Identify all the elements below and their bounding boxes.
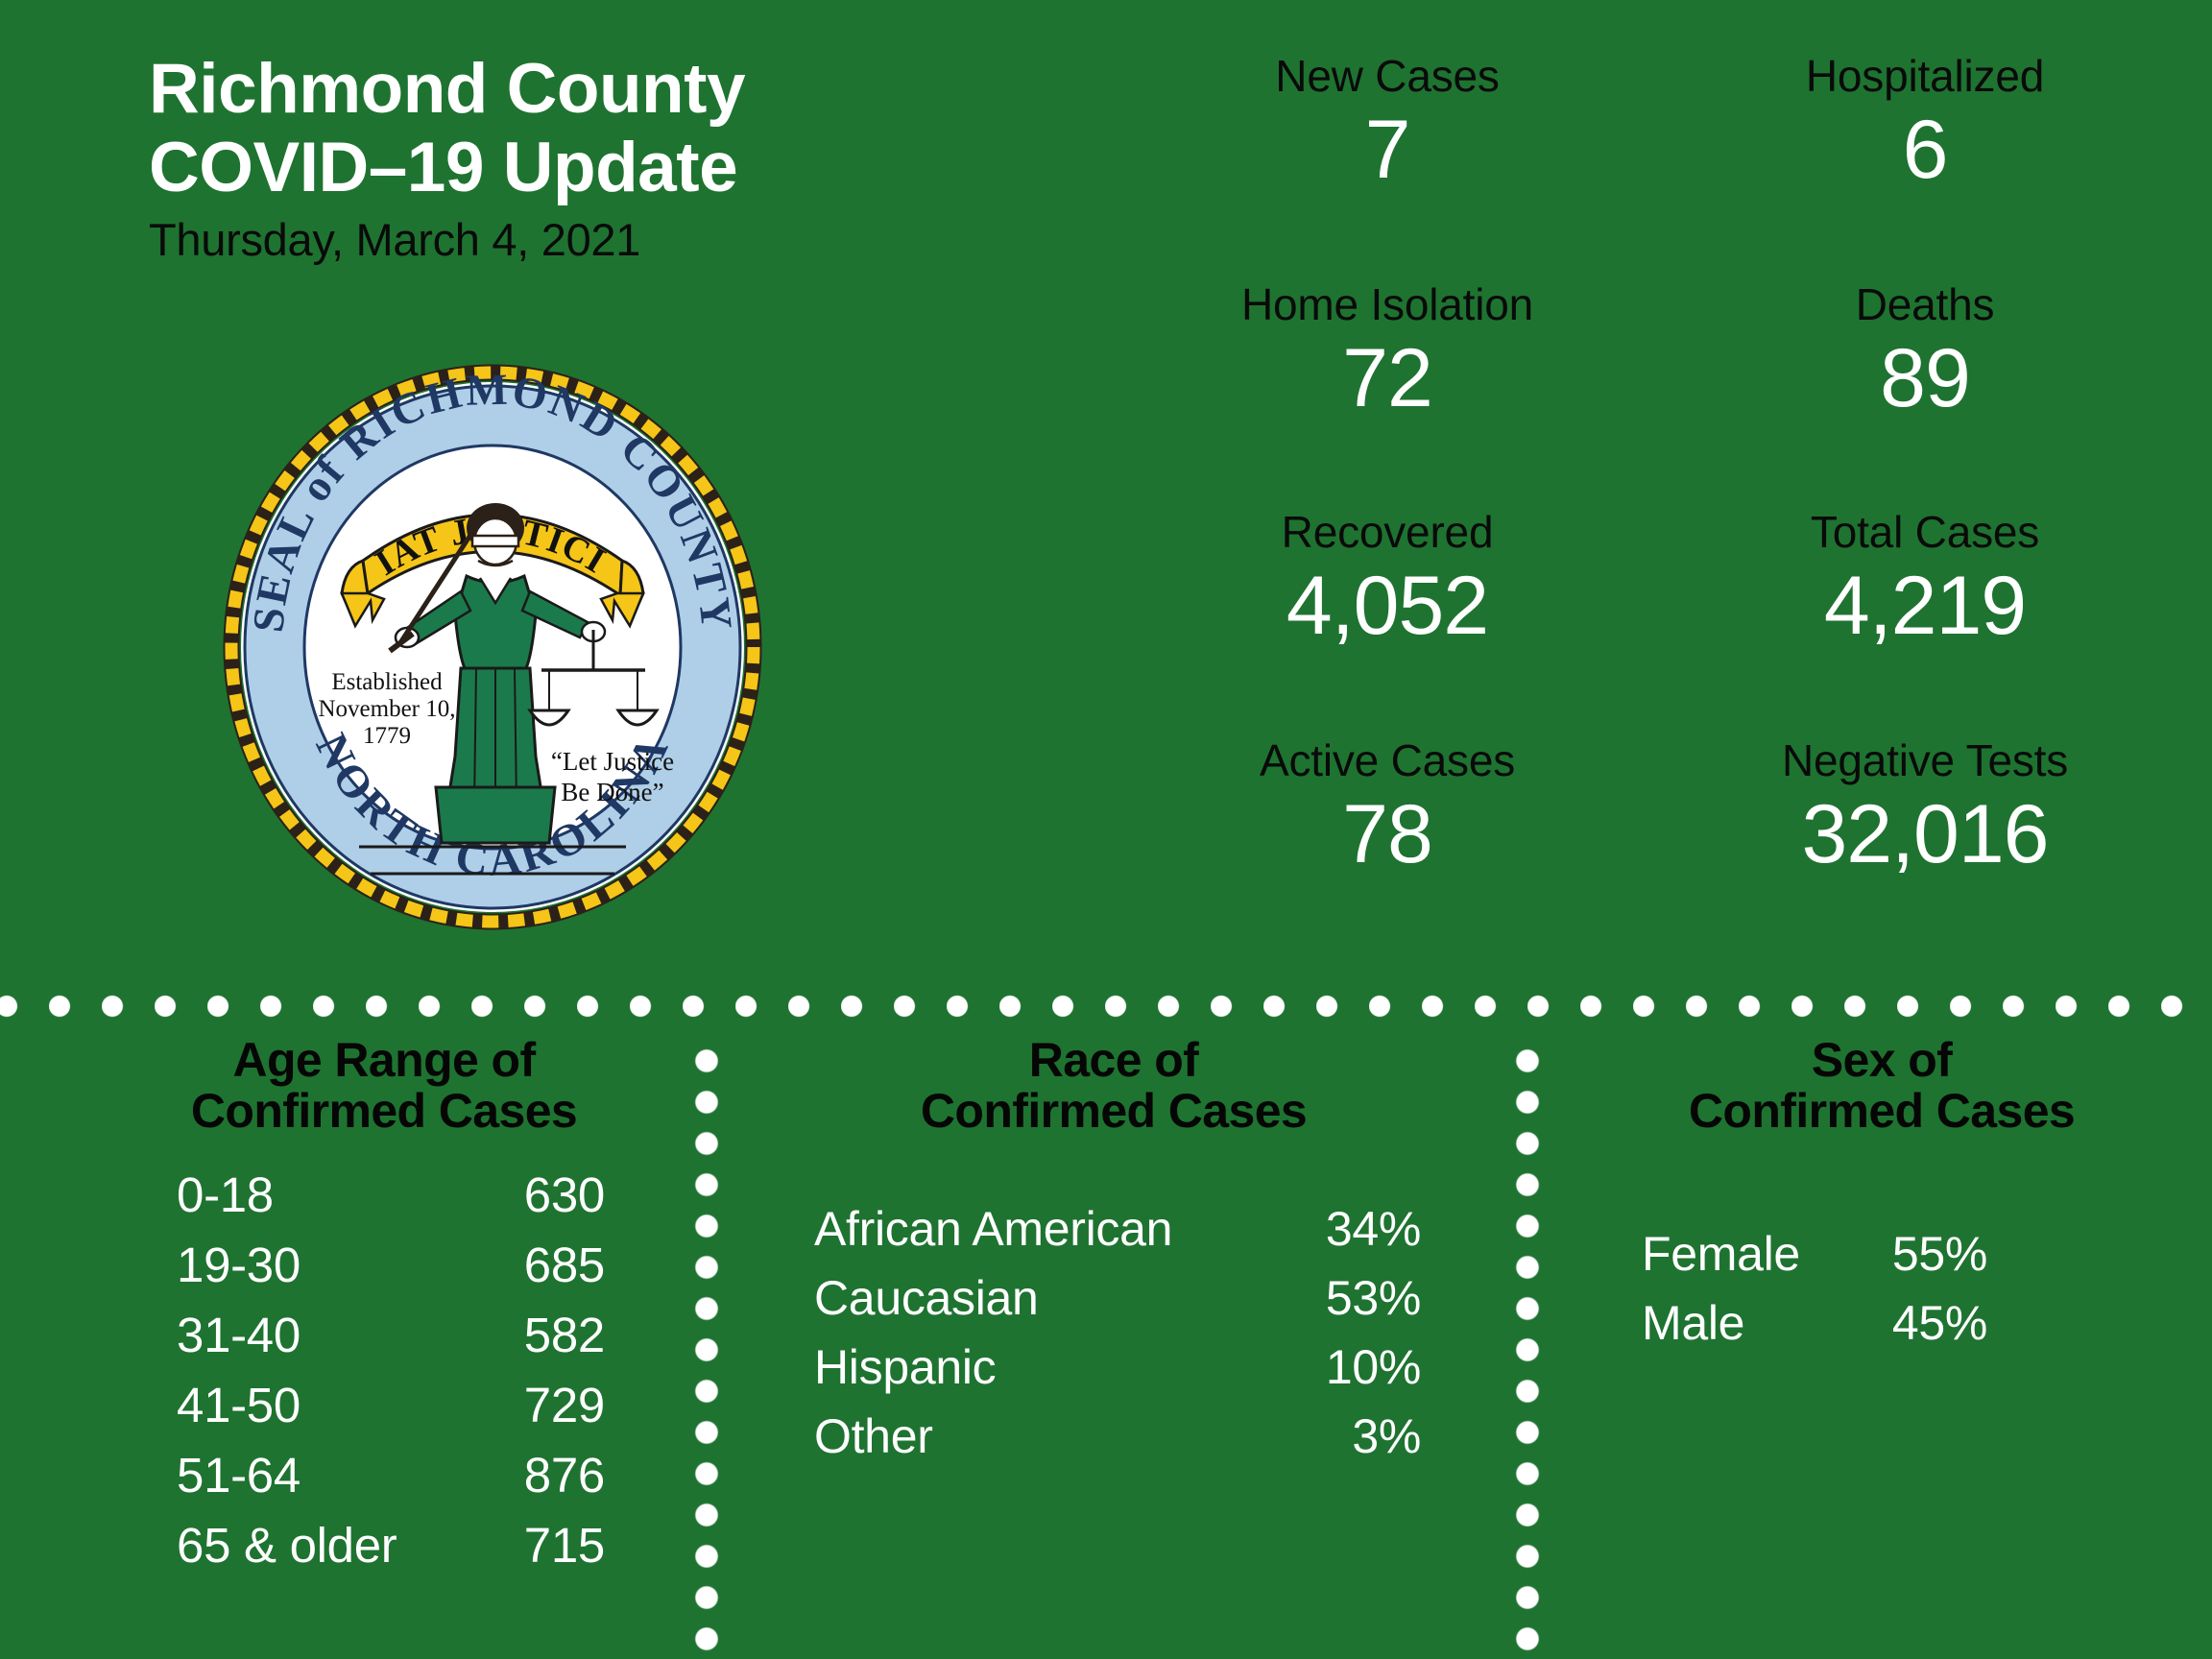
panel-heading-race: Race of Confirmed Cases (768, 1035, 1459, 1137)
stat-value: 7 (1365, 106, 1410, 195)
svg-text:Be Done”: Be Done” (561, 778, 663, 806)
stat-label: Total Cases (1811, 510, 2039, 554)
horizontal-dotted-divider (0, 995, 2212, 1018)
row-value: 582 (483, 1300, 662, 1370)
row-value: 55% (1839, 1219, 2179, 1288)
svg-text:1779: 1779 (363, 723, 411, 749)
panel-race: Race of Confirmed Cases African American… (768, 1035, 1459, 1471)
stat-value: 4,219 (1824, 562, 2026, 651)
row-value: 685 (483, 1230, 662, 1300)
summary-stats-grid: New Cases 7 Hospitalized 6 Home Isolatio… (1133, 54, 2179, 879)
stat-new-cases: New Cases 7 (1133, 54, 1642, 282)
row-label: Female (1584, 1219, 1839, 1288)
row-label: Hispanic (768, 1333, 1287, 1402)
panel-sex: Sex of Confirmed Cases Female 55% Male 4… (1584, 1035, 2179, 1358)
stat-label: Negative Tests (1782, 738, 2068, 782)
age-range-table: 0-18 630 19-30 685 31-40 582 41-50 729 5… (106, 1160, 662, 1580)
table-row: 0-18 630 (106, 1160, 662, 1230)
stat-value: 32,016 (1801, 790, 2048, 879)
stat-label: Active Cases (1260, 738, 1515, 782)
row-label: 0-18 (106, 1160, 483, 1230)
table-row: 41-50 729 (106, 1370, 662, 1440)
stat-negative-tests: Negative Tests 32,016 (1671, 738, 2179, 879)
stat-recovered: Recovered 4,052 (1133, 510, 1642, 738)
panel-heading-sex: Sex of Confirmed Cases (1584, 1035, 2179, 1137)
table-row: 51-64 876 (106, 1440, 662, 1510)
vertical-dotted-divider-left (694, 1041, 719, 1659)
row-label: Other (768, 1402, 1287, 1471)
stat-label: Home Isolation (1241, 282, 1533, 326)
svg-text:Established: Established (331, 669, 443, 695)
row-value: 729 (483, 1370, 662, 1440)
row-value: 10% (1287, 1333, 1459, 1402)
table-row: Female 55% (1584, 1219, 2179, 1288)
row-value: 876 (483, 1440, 662, 1510)
row-label: 19-30 (106, 1230, 483, 1300)
stat-label: Recovered (1282, 510, 1494, 554)
table-row: Caucasian 53% (768, 1263, 1459, 1333)
row-label: 31-40 (106, 1300, 483, 1370)
title-block: Richmond County COVID–19 Update Thursday… (149, 50, 974, 266)
table-row: African American 34% (768, 1194, 1459, 1263)
stat-value: 4,052 (1286, 562, 1488, 651)
county-seal: SEAL of RICHMOND COUNTY NORTH CAROLINA F… (219, 363, 766, 931)
panel-heading-age: Age Range of Confirmed Cases (106, 1035, 662, 1137)
row-label: 41-50 (106, 1370, 483, 1440)
stat-label: New Cases (1275, 54, 1499, 98)
row-label: 65 & older (106, 1510, 483, 1580)
stat-value: 78 (1342, 790, 1432, 879)
table-row: Hispanic 10% (768, 1333, 1459, 1402)
stat-label: Deaths (1856, 282, 1995, 326)
stat-label: Hospitalized (1806, 54, 2044, 98)
svg-text:“Let Justice: “Let Justice (551, 747, 674, 776)
sex-table: Female 55% Male 45% (1584, 1219, 2179, 1358)
stat-total-cases: Total Cases 4,219 (1671, 510, 2179, 738)
stat-deaths: Deaths 89 (1671, 282, 2179, 511)
row-label: Caucasian (768, 1263, 1287, 1333)
report-date: Thursday, March 4, 2021 (149, 213, 974, 266)
vertical-dotted-divider-right (1515, 1041, 1540, 1659)
row-label: 51-64 (106, 1440, 483, 1510)
table-row: 31-40 582 (106, 1300, 662, 1370)
row-label: Male (1584, 1288, 1839, 1358)
stat-value: 89 (1880, 334, 1970, 423)
stat-active-cases: Active Cases 78 (1133, 738, 1642, 879)
table-row: Other 3% (768, 1402, 1459, 1471)
row-label: African American (768, 1194, 1287, 1263)
row-value: 53% (1287, 1263, 1459, 1333)
page-title: Richmond County COVID–19 Update (149, 50, 974, 207)
stat-home-isolation: Home Isolation 72 (1133, 282, 1642, 511)
stat-value: 72 (1342, 334, 1432, 423)
row-value: 3% (1287, 1402, 1459, 1471)
stat-value: 6 (1903, 106, 1948, 195)
table-row: 19-30 685 (106, 1230, 662, 1300)
row-value: 715 (483, 1510, 662, 1580)
top-summary-section: Richmond County COVID–19 Update Thursday… (0, 0, 2212, 979)
county-seal-graphic: SEAL of RICHMOND COUNTY NORTH CAROLINA F… (219, 363, 766, 931)
table-row: Male 45% (1584, 1288, 2179, 1358)
stat-hospitalized: Hospitalized 6 (1671, 54, 2179, 282)
race-table: African American 34% Caucasian 53% Hispa… (768, 1194, 1459, 1471)
row-value: 45% (1839, 1288, 2179, 1358)
row-value: 630 (483, 1160, 662, 1230)
panel-age-range: Age Range of Confirmed Cases 0-18 630 19… (106, 1035, 662, 1580)
svg-text:November 10,: November 10, (318, 696, 455, 722)
row-value: 34% (1287, 1194, 1459, 1263)
table-row: 65 & older 715 (106, 1510, 662, 1580)
